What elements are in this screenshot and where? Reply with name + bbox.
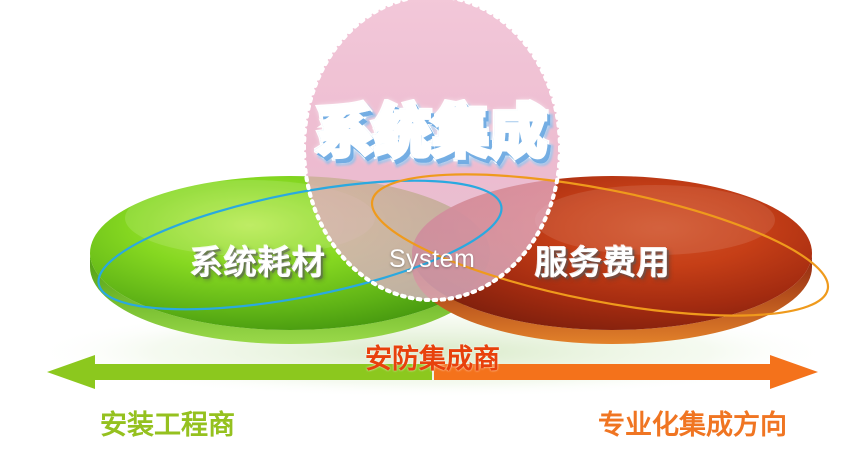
red-set-label: 服务费用	[535, 236, 671, 284]
green-set-label: 系统耗材	[190, 236, 326, 284]
center-intersection-label: System	[389, 245, 475, 274]
diagram-canvas: 系统集成 系统集成 系统耗材 服务费用 System 安防集成商 安装工程商 专…	[0, 0, 865, 450]
axis-left-caption: 安装工程商	[100, 403, 235, 442]
axis-right-caption: 专业化集成方向	[598, 403, 787, 442]
axis-center-caption: 安防集成商	[0, 337, 865, 376]
pink-set-title: 系统集成	[0, 88, 865, 169]
